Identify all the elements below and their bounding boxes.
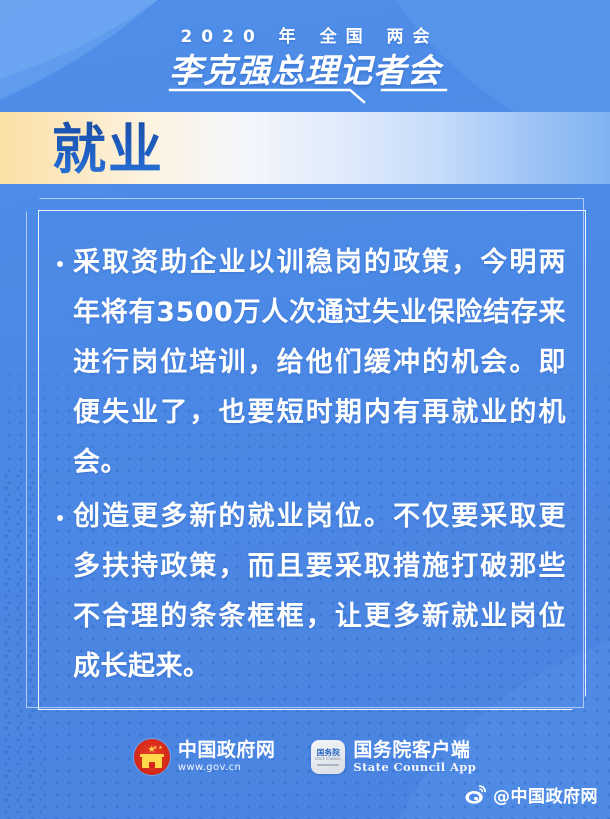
state-council-app-text: 国务院客户端 State Council App <box>353 740 476 774</box>
emblem-tiananmen-gate <box>142 757 162 768</box>
decorative-rule-icon <box>168 84 448 104</box>
poster-footer: ★ ★★ 中国政府网 www.gov.cn 国务院 STATE COUNCIL … <box>0 727 610 819</box>
app-icon-bar <box>317 764 339 766</box>
state-council-app-icon: 国务院 STATE COUNCIL <box>311 740 345 774</box>
gov-site-text: 中国政府网 www.gov.cn <box>178 740 276 774</box>
content-body: 采取资助企业以训稳岗的政策，今明两年将有3500万人次通过失业保险结存来进行岗位… <box>56 238 566 692</box>
app-icon-label-cn: 国务院 <box>317 748 340 757</box>
footer-logo-row: ★ ★★ 中国政府网 www.gov.cn 国务院 STATE COUNCIL … <box>0 739 610 775</box>
list-item: 创造更多新的就业岗位。不仅要采取更多扶持政策，而且要采取措施打破那些不合理的条条… <box>56 492 566 692</box>
gov-site-name: 中国政府网 <box>178 740 276 761</box>
emblem-small-stars: ★★ <box>134 745 170 751</box>
gov-site-logo-group: ★ ★★ 中国政府网 www.gov.cn <box>134 739 276 775</box>
state-council-app-name: 国务院客户端 <box>353 740 476 761</box>
app-icon-label-en: STATE COUNCIL <box>315 757 342 762</box>
weibo-icon <box>464 783 487 806</box>
page-title: 就业 <box>52 120 164 180</box>
list-item: 采取资助企业以训稳岗的政策，今明两年将有3500万人次通过失业保险结存来进行岗位… <box>56 238 566 488</box>
state-council-app-name-en: State Council App <box>353 761 476 774</box>
gov-site-url: www.gov.cn <box>178 761 276 774</box>
poster-header: 2020 年 全国 两会 李克强总理记者会 <box>0 0 610 112</box>
china-national-emblem-icon: ★ ★★ <box>134 739 170 775</box>
state-council-app-logo-group: 国务院 STATE COUNCIL 国务院客户端 State Council A… <box>311 740 476 774</box>
weibo-handle: @中国政府网 <box>493 782 598 807</box>
weibo-group: @中国政府网 <box>464 782 598 807</box>
infographic-poster: 2020 年 全国 两会 李克强总理记者会 就业 采取资助企业以训稳岗的政策，今… <box>0 0 610 819</box>
